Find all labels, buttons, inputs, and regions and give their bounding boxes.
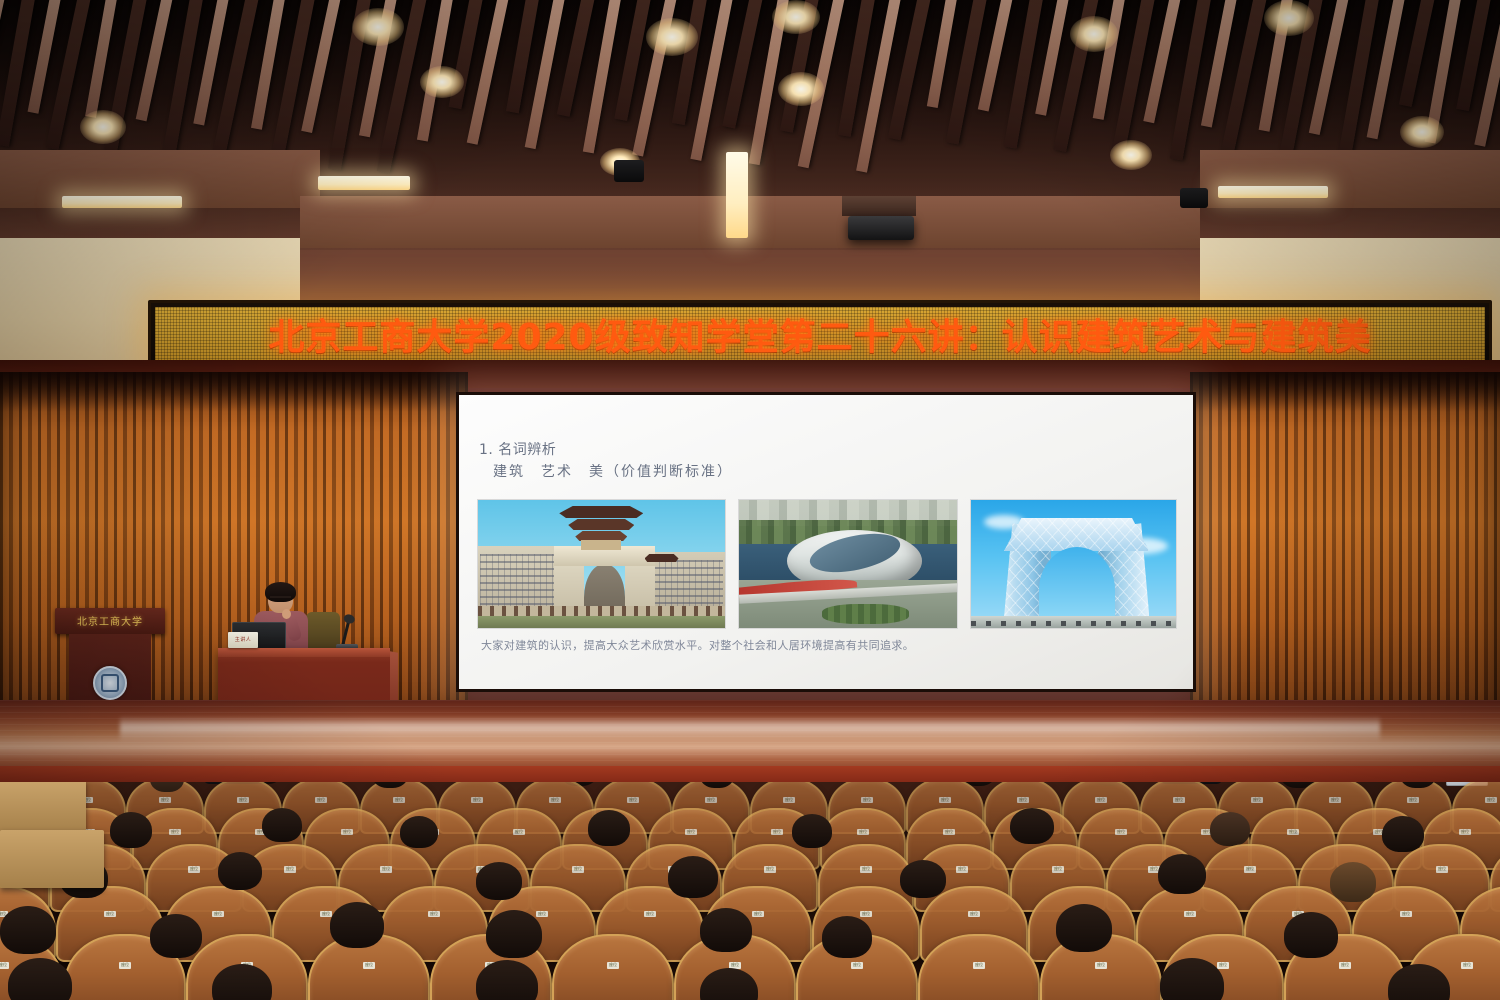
audience-member-head (262, 808, 302, 842)
audience-member-head (588, 810, 630, 846)
seat-number-label: 座位 (1017, 797, 1029, 803)
audience-member-head (900, 860, 946, 898)
seat-number-label: 座位 (968, 911, 980, 917)
ceiling-downlight-4 (646, 18, 698, 56)
seat-number-label: 座位 (607, 962, 619, 968)
audience-member-head (1284, 912, 1338, 958)
seat-number-label: 座位 (1287, 829, 1299, 835)
seat-number-label: 座位 (1459, 829, 1471, 835)
seat-number-label: 座位 (237, 797, 249, 803)
seat-number-label: 座位 (771, 829, 783, 835)
ceiling-strip-light-1 (726, 152, 748, 238)
side-desk-left (0, 782, 86, 834)
audience-member-head (476, 862, 522, 900)
station-plaza (478, 616, 725, 628)
projection-screen: 1. 名词辨析 建筑 艺术 美（价值判断标准） (456, 392, 1196, 692)
seat-number-label: 座位 (159, 797, 171, 803)
seat-number-label: 座位 (104, 911, 116, 917)
podium-university-name: 北京工商大学 (55, 613, 165, 628)
ceiling-speaker-right (1180, 188, 1208, 208)
projector-mount-plate (842, 196, 916, 216)
seat-number-label: 座位 (1184, 911, 1196, 917)
seat-number-label: 座位 (428, 911, 440, 917)
ceiling-projector (848, 216, 914, 240)
seat-number-label: 座位 (315, 797, 327, 803)
ceiling-downlight-8 (1264, 0, 1314, 36)
cctv-illustration (971, 500, 1176, 628)
seat-number-label: 座位 (549, 797, 561, 803)
seat-number-label: 座位 (119, 962, 131, 968)
seat-number-label: 座位 (627, 797, 639, 803)
seat-number-label: 座位 (513, 829, 525, 835)
seat-number-label: 座位 (860, 866, 872, 872)
seat-number-label: 座位 (0, 962, 9, 968)
audience-member-head (792, 814, 832, 848)
seat-number-label: 座位 (861, 797, 873, 803)
ceiling-downlight-1 (80, 110, 126, 144)
ncpa-garden (822, 604, 909, 624)
audience-seating-area: 座位座位座位座位座位座位座位座位座位座位座位座位座位座位座位座位座位座位座位座位… (0, 782, 1500, 1000)
seat-number-label: 座位 (1485, 797, 1497, 803)
seat-number-label: 座位 (973, 962, 985, 968)
seat-number-label: 座位 (1407, 797, 1419, 803)
ceiling-downlight-9 (1400, 116, 1444, 148)
slide-image-national-centre-performing-arts (738, 499, 959, 629)
seat-number-label: 座位 (169, 829, 181, 835)
audience-member-head (0, 906, 56, 954)
seat-number-label: 座位 (341, 829, 353, 835)
pavilion-roof-upper (559, 506, 643, 518)
seat-number-label: 座位 (363, 962, 375, 968)
audience-member-head (1158, 854, 1206, 894)
station-windows-left (480, 554, 562, 612)
audience-member-head (150, 914, 202, 958)
lecture-hall-photo: 北京工商大学2020级致知学堂第二十六讲：认识建筑艺术与建筑美 1. 名词辨析 … (0, 0, 1500, 1000)
seat-number-label: 座位 (752, 911, 764, 917)
seat-number-label: 座位 (393, 797, 405, 803)
seat-number-label: 座位 (380, 866, 392, 872)
pavilion-body (581, 540, 621, 550)
seat-number-label: 座位 (320, 911, 332, 917)
audience-member-head (1210, 812, 1250, 846)
ceiling-downlight-3 (420, 66, 464, 98)
led-banner-text: 北京工商大学2020级致知学堂第二十六讲：认识建筑艺术与建筑美 (268, 308, 1371, 360)
side-desk-left-2 (0, 830, 104, 888)
seat-number-label: 座位 (536, 911, 548, 917)
ceiling-strip-light-3 (1218, 186, 1328, 198)
cctv-traffic (971, 621, 1176, 626)
seat-number-label: 座位 (212, 911, 224, 917)
ceiling-downlight-5 (772, 0, 820, 34)
lecture-table-edge (218, 648, 390, 657)
side-pavilion-roof (645, 554, 679, 562)
beijing-west-railway-station-illustration (478, 500, 725, 628)
ceiling-panel-center (300, 196, 1200, 248)
audience-member-head (1056, 904, 1112, 952)
audience-member-head (700, 908, 752, 952)
audience-member-head (8, 958, 72, 1000)
seat-number-label: 座位 (851, 962, 863, 968)
pavilion-roof-mid (568, 519, 634, 530)
seat-number-label: 座位 (705, 797, 717, 803)
audience-member-head (1382, 816, 1424, 852)
audience-member-head (400, 816, 438, 848)
stage-curtain-right (1190, 372, 1500, 704)
speaker-nameplate: 主讲人 (228, 632, 258, 648)
led-banner: 北京工商大学2020级致知学堂第二十六讲：认识建筑艺术与建筑美 (148, 300, 1492, 368)
ceiling-downlight-2 (352, 8, 404, 46)
curtain-shadow-left (0, 372, 468, 412)
audience-member-head (1010, 808, 1054, 844)
audience-member-head (668, 856, 718, 898)
slide-caption: 大家对建筑的认识，提高大众艺术欣赏水平。对整个社会和人居环境提高有共同追求。 (481, 637, 1181, 653)
slide-image-cctv-headquarters (970, 499, 1177, 629)
ceiling-strip-light-2 (318, 176, 410, 190)
seat-number-label: 座位 (1095, 962, 1107, 968)
stage-floor-reflection (120, 716, 1380, 742)
ceiling-panel-right (1200, 150, 1500, 208)
speaker-nameplate-text: 主讲人 (228, 636, 258, 643)
audience-member-head (1330, 862, 1376, 902)
seat-number-label: 座位 (188, 866, 200, 872)
seat-number-label: 座位 (572, 866, 584, 872)
ceiling-downlight-10 (1110, 140, 1152, 170)
slide-image-beijing-west-railway-station (477, 499, 726, 629)
audience-member-head (110, 812, 152, 848)
speaker-hand-holding-mic (282, 609, 291, 619)
seat-number-label: 座位 (764, 866, 776, 872)
university-emblem-icon (93, 666, 127, 700)
seat-number-label: 座位 (284, 866, 296, 872)
seat-number-label: 座位 (1339, 962, 1351, 968)
audience-member-head (822, 916, 872, 958)
slide-image-row (477, 499, 1177, 629)
seat-number-label: 座位 (857, 829, 869, 835)
ncpa-illustration (739, 500, 958, 628)
seat-number-label: 座位 (860, 911, 872, 917)
seat-number-label: 座位 (943, 829, 955, 835)
seat-number-label: 座位 (939, 797, 951, 803)
seat-number-label: 座位 (644, 911, 656, 917)
curtain-shadow-right (1190, 372, 1500, 412)
speaker-chair (306, 612, 340, 650)
ceiling-downlight-6 (778, 72, 824, 106)
audience-member-head (218, 852, 262, 890)
seat-number-label: 座位 (1115, 829, 1127, 835)
seat-number-label: 座位 (1400, 911, 1412, 917)
seat-number-label: 座位 (783, 797, 795, 803)
seat-number-label: 座位 (1173, 797, 1185, 803)
ceiling-downlight-7 (1070, 16, 1118, 52)
seat-number-label: 座位 (471, 797, 483, 803)
seat-number-label: 座位 (1461, 962, 1473, 968)
podium-header-panel: 北京工商大学 (55, 608, 165, 634)
ceiling-speaker-left (614, 160, 644, 182)
seat-number-label: 座位 (1052, 866, 1064, 872)
seat-number-label: 座位 (1244, 866, 1256, 872)
seat-number-label: 座位 (1095, 797, 1107, 803)
seat-number-label: 座位 (1329, 797, 1341, 803)
led-banner-screen: 北京工商大学2020级致知学堂第二十六讲：认识建筑艺术与建筑美 (155, 307, 1485, 361)
station-side-pavilion (645, 554, 679, 574)
station-pavilion (559, 506, 643, 550)
slide-subheading: 建筑 艺术 美（价值判断标准） (493, 461, 733, 481)
seat-number-label: 座位 (1251, 797, 1263, 803)
ceiling-strip-light-4 (62, 196, 182, 208)
seat-number-label: 座位 (1217, 962, 1229, 968)
speaker-glasses (270, 596, 291, 603)
slide-heading: 1. 名词辨析 (479, 439, 556, 459)
seat-number-label: 座位 (685, 829, 697, 835)
seat-number-label: 座位 (1436, 866, 1448, 872)
seat-number-label: 座位 (956, 866, 968, 872)
audience-member-head (330, 902, 384, 948)
audience-member-head (486, 910, 542, 958)
presentation-slide: 1. 名词辨析 建筑 艺术 美（价值判断标准） (459, 395, 1193, 689)
